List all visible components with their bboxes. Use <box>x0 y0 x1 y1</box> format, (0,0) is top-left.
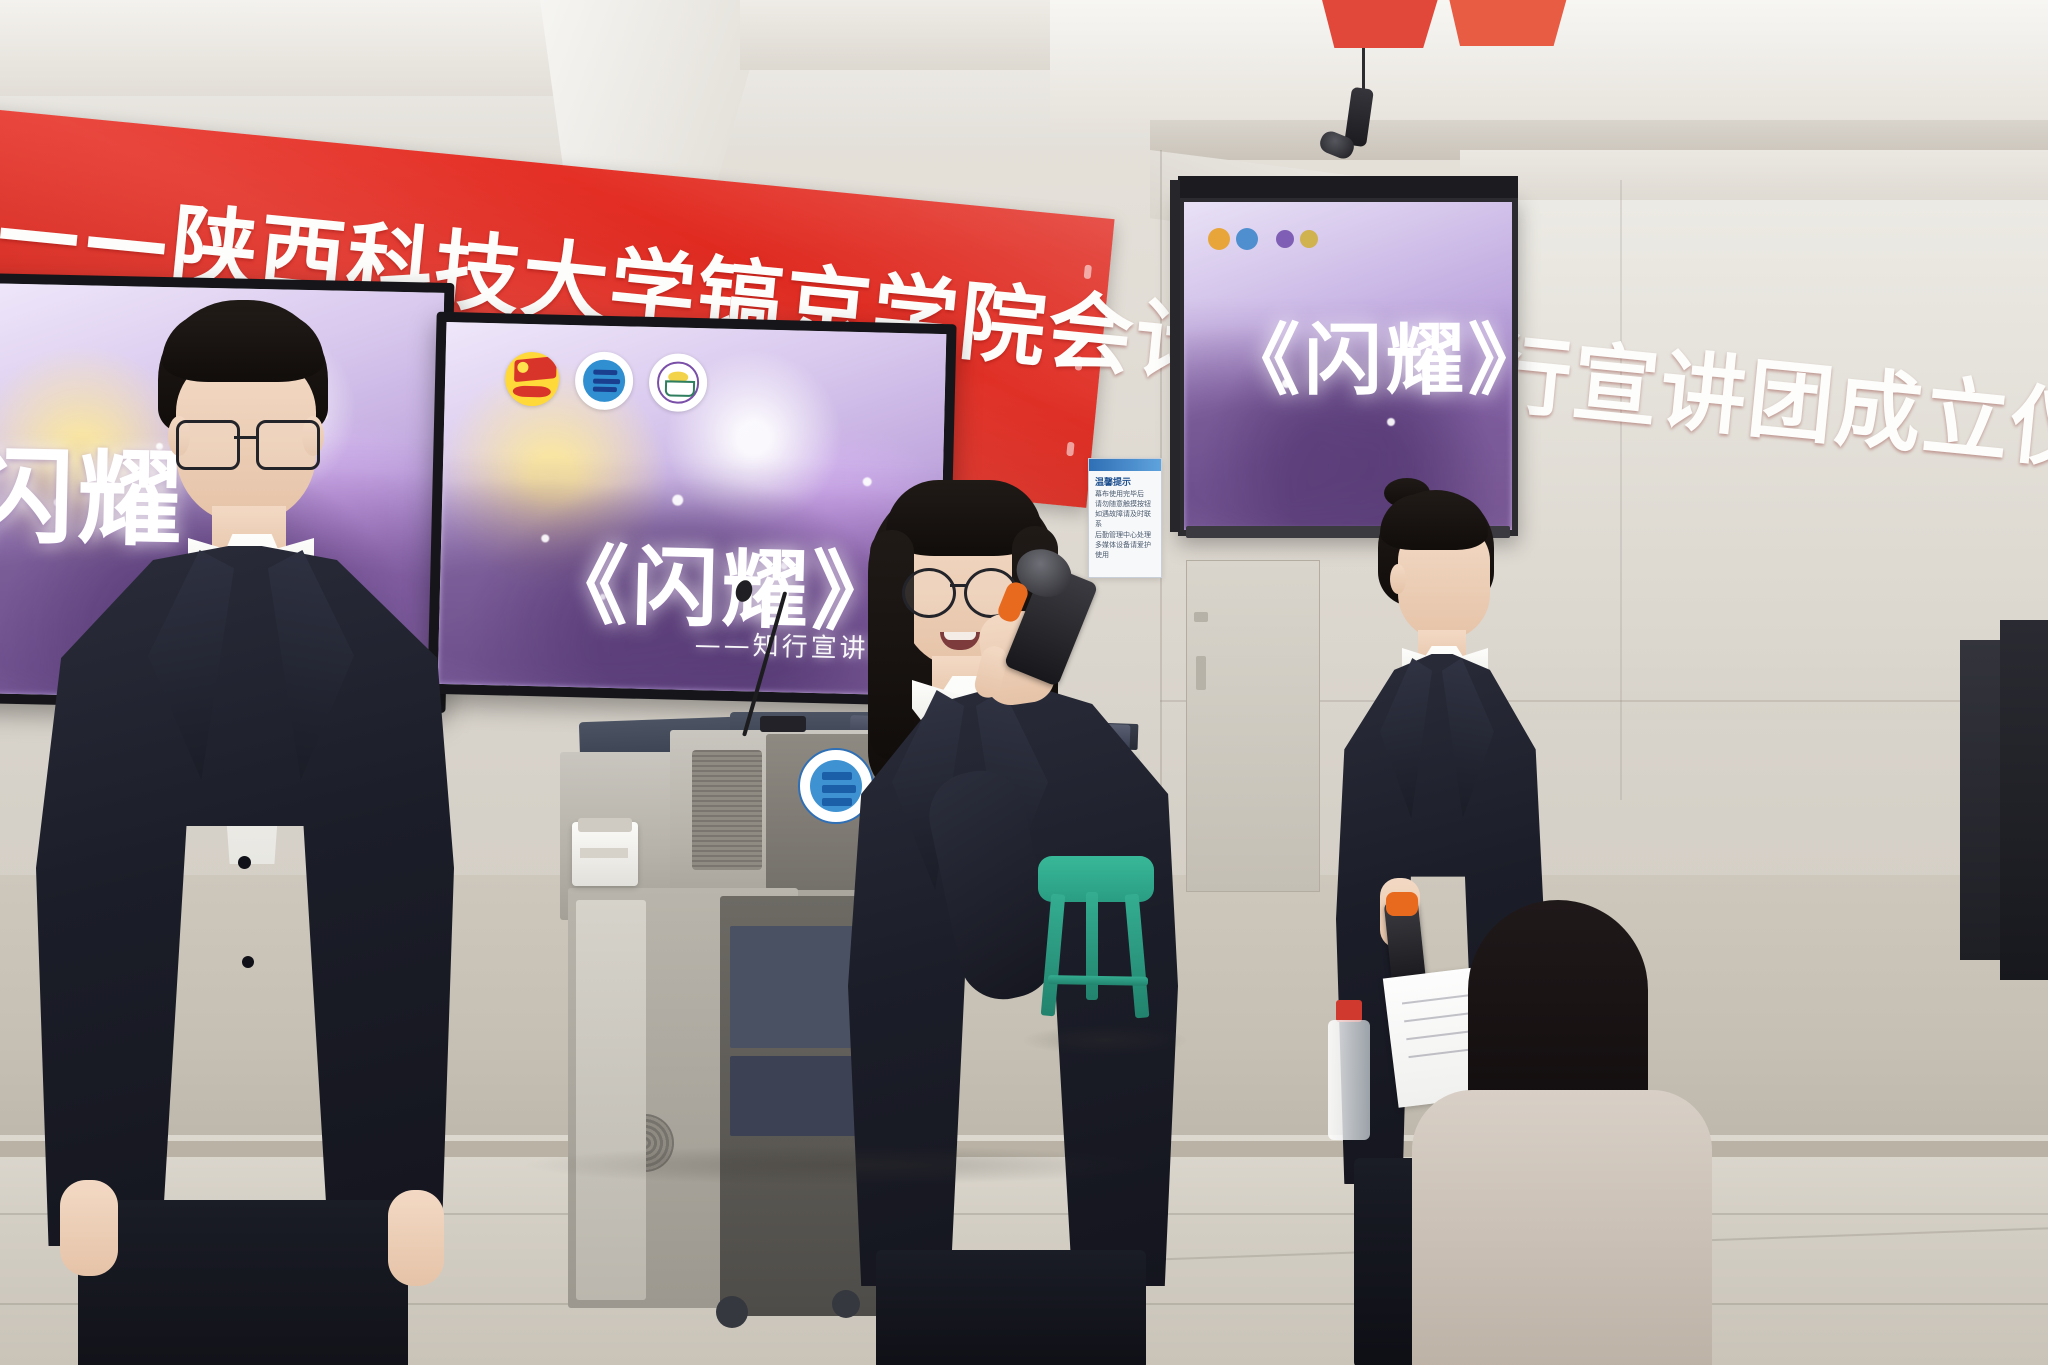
ceiling-beam-left <box>0 0 560 96</box>
glasses-left-lens <box>902 568 956 618</box>
hand-left <box>60 1180 118 1276</box>
glasses-bridge <box>234 436 256 439</box>
projection-screen-top-bar <box>1178 176 1518 198</box>
door-handle[interactable] <box>1196 656 1206 690</box>
suit-button <box>238 856 251 869</box>
glasses-right-lens <box>256 420 320 470</box>
projection-dot <box>1300 230 1318 248</box>
student-left <box>30 300 460 1365</box>
league-ribbon <box>512 385 551 398</box>
wall-service-door[interactable] <box>1186 560 1320 892</box>
trousers <box>78 1200 408 1365</box>
banner-grommet-3 <box>1066 442 1074 457</box>
university-bar <box>593 378 620 384</box>
right-wall-dark-column-2 <box>2000 620 2048 980</box>
red-ceiling-tag <box>1448 0 1568 46</box>
foreground-person-head <box>1468 900 1648 1120</box>
banner-grommet-2 <box>1075 356 1083 371</box>
pen-tray <box>580 848 628 858</box>
podium-speaker-grille <box>692 750 762 870</box>
foreground-person-shoulder <box>1412 1090 1712 1365</box>
hair-fringe <box>162 312 324 382</box>
gooseneck-microphone-base <box>760 716 806 732</box>
ear <box>1390 564 1406 594</box>
podium-side-panel <box>576 900 646 1300</box>
projection-title: 《闪耀》 <box>1222 298 1512 410</box>
screen-logo-row <box>504 349 707 412</box>
ceremony-hall-photo: ——陕西科技大学镐京学院会计学院知行宣讲团成立仪式 闪耀 <box>0 0 2048 1365</box>
floor-shadow <box>520 1145 1160 1185</box>
wall-seam-vertical-2 <box>1620 180 1622 800</box>
suit-jacket <box>36 546 454 1246</box>
university-bar <box>593 370 617 375</box>
projection-dot <box>1236 228 1258 250</box>
tissue-box-lid <box>578 818 632 832</box>
stool-stretcher <box>1048 975 1148 986</box>
projection-dot <box>1208 228 1230 250</box>
screen-spark <box>672 494 683 505</box>
university-bar <box>593 387 617 392</box>
suit-button-2 <box>242 956 254 968</box>
microphone-foam-ring-right <box>1386 892 1418 916</box>
glasses-left-lens <box>176 420 240 470</box>
banner-grommet-1 <box>1084 265 1092 280</box>
floor-shadow-stool <box>1020 1025 1190 1055</box>
communist-youth-league-emblem <box>504 351 559 406</box>
league-star <box>517 361 528 372</box>
red-ceiling-tag <box>1320 0 1440 48</box>
emblem-book <box>665 380 695 397</box>
water-bottle[interactable] <box>1324 1000 1374 1140</box>
podium-caster-wheel <box>716 1296 748 1328</box>
bottle-cap <box>1336 1000 1362 1022</box>
projection-dot <box>1276 230 1294 248</box>
hand-right <box>388 1190 444 1286</box>
hair-fringe <box>1380 494 1488 550</box>
university-emblem <box>574 351 633 410</box>
teeth <box>944 632 976 640</box>
bottle-body <box>1328 1020 1370 1140</box>
glasses-bridge <box>950 584 966 587</box>
trousers <box>876 1250 1146 1365</box>
door-hook <box>1194 612 1208 622</box>
accounting-college-emblem <box>648 353 707 412</box>
hair-side-strand <box>870 530 914 760</box>
